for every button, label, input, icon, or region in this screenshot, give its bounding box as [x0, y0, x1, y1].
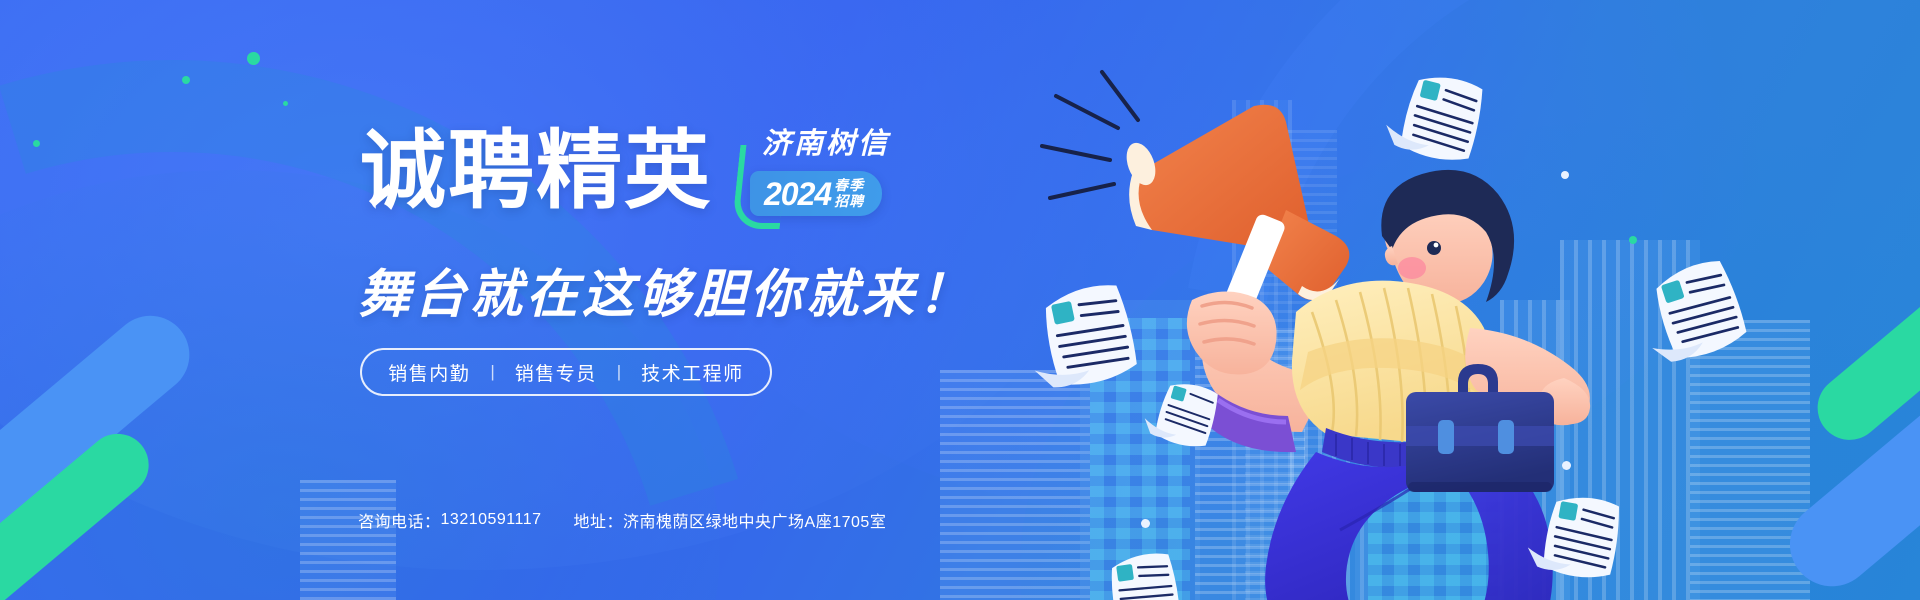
bar-blue-right [1773, 321, 1920, 600]
building [1690, 320, 1810, 600]
badge-season: 春季 [834, 178, 864, 193]
address-label: 地址： [574, 508, 624, 532]
brand-block: 济南树信 2024 春季 招聘 [736, 120, 946, 216]
page-title: 诚聘精英 [360, 128, 712, 214]
dot-green [1629, 236, 1637, 244]
banner-text-content: 诚聘精英 济南树信 2024 春季 招聘 舞台就在这够胆你就来！ 销售内勤 | … [0, 0, 1000, 600]
role-separator: | [617, 362, 621, 382]
role-item-0[interactable]: 销售内勤 [388, 359, 470, 386]
headline-row: 诚聘精英 济南树信 2024 春季 招聘 [360, 128, 946, 216]
badge-subtitle: 春季 招聘 [834, 178, 864, 208]
address-value: 济南槐荫区绿地中央广场A座1705室 [623, 508, 886, 532]
sound-wave-lines [1042, 72, 1138, 198]
hand-grip [1187, 291, 1277, 374]
job-roles-pill[interactable]: 销售内勤 | 销售专员 | 技术工程师 [360, 348, 772, 396]
resume-paper-icon [1632, 256, 1750, 370]
recruitment-banner: 诚聘精英 济南树信 2024 春季 招聘 舞台就在这够胆你就来！ 销售内勤 | … [0, 0, 1920, 600]
role-separator: | [490, 362, 494, 382]
bar-green-right [1805, 211, 1920, 453]
recruitment-badge: 2024 春季 招聘 [750, 171, 882, 216]
phone-value[interactable]: 13210591117 [441, 511, 542, 529]
contact-info: 咨询电话： 13210591117 地址： 济南槐荫区绿地中央广场A座1705室 [358, 508, 886, 532]
role-item-1[interactable]: 销售专员 [515, 359, 597, 386]
badge-action: 招聘 [834, 194, 864, 209]
hero-illustration [1040, 60, 1600, 600]
badge-green-hook-icon [732, 145, 789, 229]
subtitle-slogan: 舞台就在这够胆你就来！ [358, 252, 974, 327]
role-item-2[interactable]: 技术工程师 [641, 359, 744, 386]
phone-label: 咨询电话： [358, 508, 441, 532]
